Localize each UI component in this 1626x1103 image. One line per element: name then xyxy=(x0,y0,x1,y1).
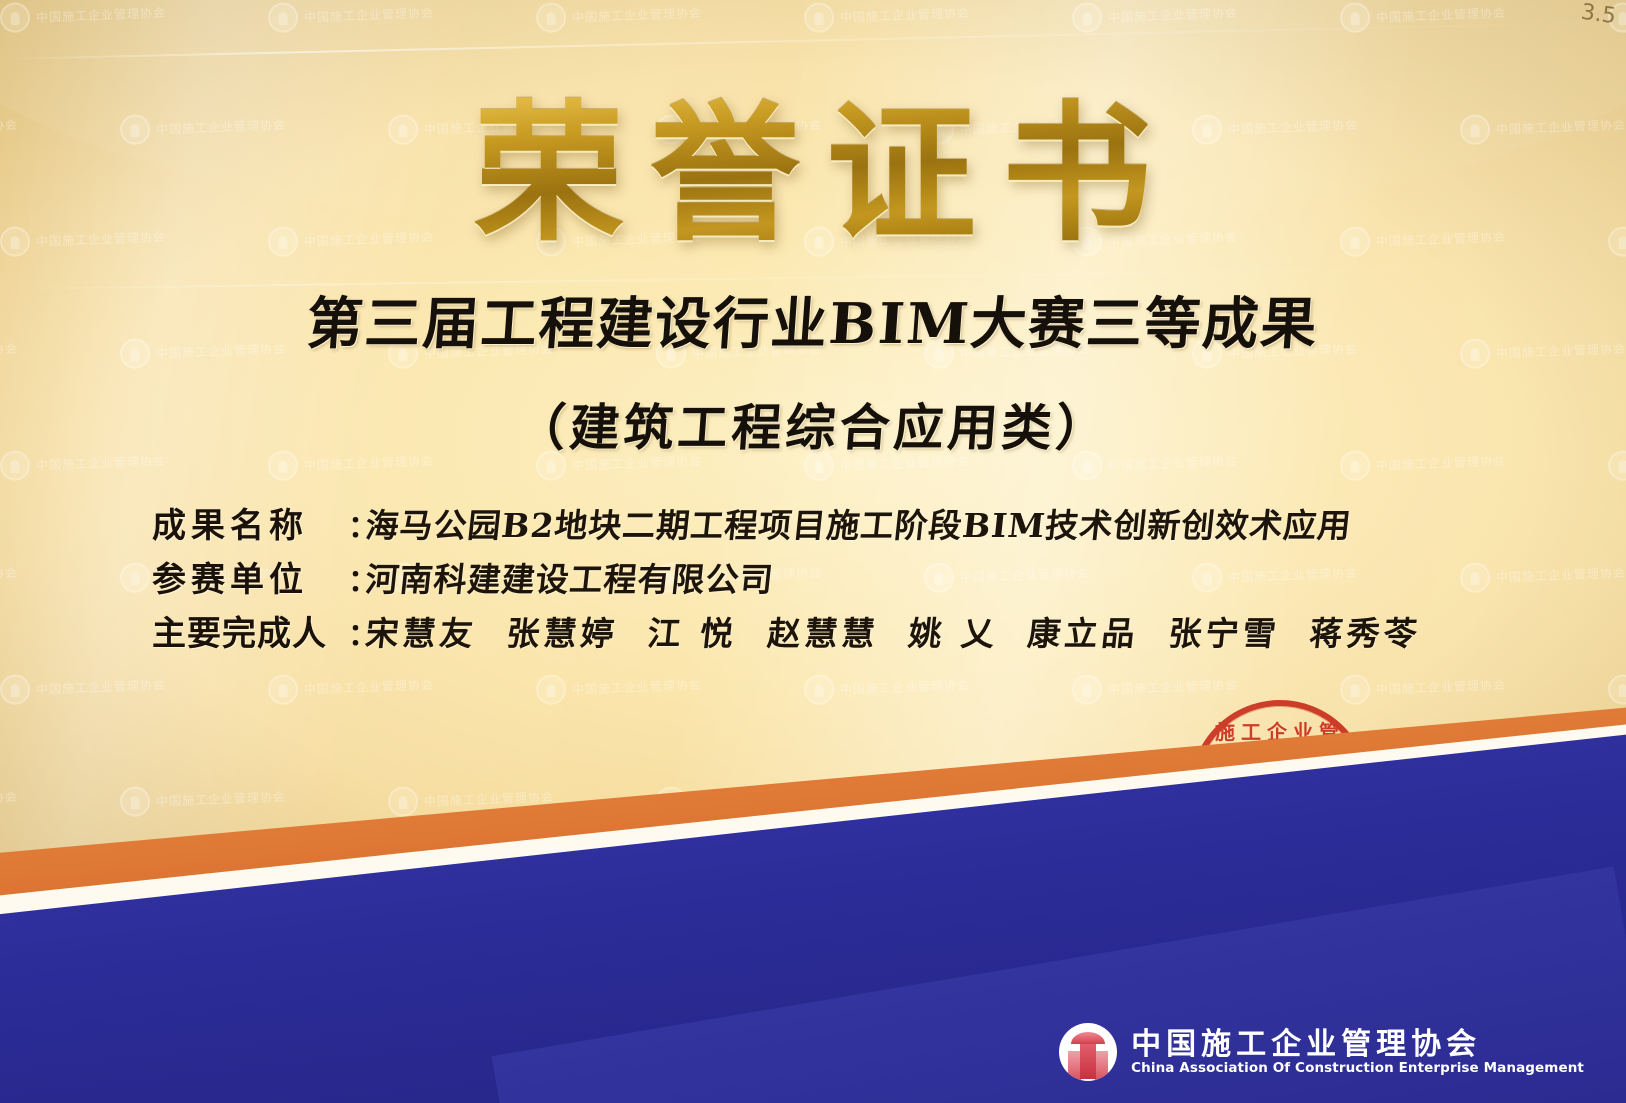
watermark-seal-glyph xyxy=(1339,2,1370,33)
watermark-text: 中国施工企业管理协会 xyxy=(572,675,703,697)
watermark-text: 中国施工企业管理协会 xyxy=(1376,3,1507,25)
award-zone: 第三届工程建设行业BIM大赛三等成果 xyxy=(0,296,1626,352)
detail-label: 成果名称 xyxy=(152,498,348,547)
contributor-name: 江 悦 xyxy=(645,607,740,655)
footer-logo: 中国施工企业管理协会 China Association Of Construc… xyxy=(1059,1023,1584,1081)
detail-value-achievement-name: 海马公园B2地块二期工程项目施工阶段BIM技术创新创效术应用 xyxy=(363,499,1354,547)
watermark-seal-icon: 中国施工企业管理协会 xyxy=(803,0,970,33)
watermark-text: 中国施工企业管理协会 xyxy=(304,3,435,25)
watermark-seal-icon: 中国施工企业管理协会 xyxy=(1339,0,1506,33)
watermark-seal-icon: 中国施工企业管理协会 xyxy=(0,0,167,33)
watermark-seal-glyph xyxy=(0,674,31,705)
watermark-seal-icon: 中国施工企业管理协会 xyxy=(267,0,434,33)
watermark-text: 中国施工企业管理协会 xyxy=(1376,675,1507,697)
contributor-name: 张慧婷 xyxy=(504,607,620,655)
contributor-name: 宋慧友 xyxy=(363,607,479,655)
watermark-text: 中国施工企业管理协会 xyxy=(572,3,703,25)
detail-label: 主要完成人 xyxy=(152,606,348,655)
watermark-text: 中国施工企业管理协会 xyxy=(840,3,971,25)
watermark-text: 中国施工企业管理协会 xyxy=(1108,675,1239,697)
watermark-seal-glyph xyxy=(535,674,566,705)
detail-value-participating-unit: 河南科建建设工程有限公司 xyxy=(363,553,776,601)
detail-list: 成果名称 ： 海马公园B2地块二期工程项目施工阶段BIM技术创新创效术应用 参赛… xyxy=(152,498,1472,660)
footer-logo-text: 中国施工企业管理协会 China Association Of Construc… xyxy=(1131,1029,1584,1076)
watermark-seal-glyph xyxy=(387,786,418,817)
detail-label: 参赛单位 xyxy=(152,552,348,601)
watermark-seal-glyph xyxy=(119,786,150,817)
association-emblem-icon xyxy=(1059,1023,1117,1081)
watermark-seal-icon: 中国施工企业管理协会 xyxy=(0,557,19,593)
contributor-name-list: 宋慧友张慧婷江 悦赵慧慧姚 乂康立品张宁雪蒋秀苓 xyxy=(366,607,1421,655)
watermark-seal-glyph xyxy=(119,562,150,593)
watermark-seal-glyph xyxy=(0,2,31,33)
detail-row-achievement-name: 成果名称 ： 海马公园B2地块二期工程项目施工阶段BIM技术创新创效术应用 xyxy=(152,498,1472,552)
emblem-cap xyxy=(1071,1032,1105,1044)
pen-mark: 3.5 xyxy=(1579,0,1617,29)
contributor-name: 康立品 xyxy=(1025,607,1141,655)
title-zone: 荣誉证书 xyxy=(0,96,1626,254)
watermark-seal-icon: 中国施工企业管理协会 xyxy=(0,781,19,817)
detail-row-participating-unit: 参赛单位 ： 河南科建建设工程有限公司 xyxy=(152,552,1472,606)
award-category: （建筑工程综合应用类） xyxy=(513,388,1112,460)
watermark-text: 中国施工企业管理协会 xyxy=(0,563,18,585)
watermark-seal-icon: 中国施工企业管理协会 xyxy=(803,669,970,705)
main-title: 荣誉证书 xyxy=(448,96,1178,254)
watermark-text: 中国施工企业管理协会 xyxy=(1496,563,1626,585)
watermark-seal-icon: 中国施工企业管理协会 xyxy=(0,669,167,705)
watermark-seal-glyph xyxy=(803,674,834,705)
contributor-name: 蒋秀苓 xyxy=(1307,607,1423,655)
award-title: 第三届工程建设行业BIM大赛三等成果 xyxy=(305,296,1320,352)
watermark-text: 中国施工企业管理协会 xyxy=(36,3,167,25)
watermark-text: 中国施工企业管理协会 xyxy=(0,787,18,809)
watermark-seal-icon: 中国施工企业管理协会 xyxy=(267,669,434,705)
watermark-seal-icon: 中国施工企业管理协会 xyxy=(1071,0,1238,33)
watermark-seal-glyph xyxy=(267,674,298,705)
watermark-text: 中国施工企业管理协会 xyxy=(304,675,435,697)
emblem-wing-right xyxy=(1095,1051,1108,1081)
watermark-seal-icon: 中国施工企业管理协会 xyxy=(1607,669,1626,705)
category-zone: （建筑工程综合应用类） xyxy=(0,388,1626,460)
watermark-seal-icon: 中国施工企业管理协会 xyxy=(535,669,702,705)
watermark-seal-glyph xyxy=(1607,674,1626,705)
honor-certificate: 中国施工企业管理协会中国施工企业管理协会中国施工企业管理协会中国施工企业管理协会… xyxy=(0,0,1626,1103)
watermark-text: 中国施工企业管理协会 xyxy=(36,675,167,697)
contributor-name: 张宁雪 xyxy=(1166,607,1282,655)
watermark-seal-glyph xyxy=(535,2,566,33)
watermark-seal-glyph xyxy=(803,2,834,33)
watermark-text: 中国施工企业管理协会 xyxy=(1108,3,1239,25)
watermark-seal-icon: 中国施工企业管理协会 xyxy=(119,781,286,817)
watermark-text: 中国施工企业管理协会 xyxy=(156,787,287,809)
watermark-seal-glyph xyxy=(1071,2,1102,33)
watermark-seal-icon: 中国施工企业管理协会 xyxy=(1459,557,1626,593)
watermark-seal-glyph xyxy=(1071,674,1102,705)
watermark-text: 中国施工企业管理协会 xyxy=(840,675,971,697)
watermark-seal-glyph xyxy=(267,2,298,33)
footer-logo-cn: 中国施工企业管理协会 xyxy=(1131,1029,1584,1061)
footer-logo-en: China Association Of Construction Enterp… xyxy=(1131,1061,1584,1075)
contributor-name: 赵慧慧 xyxy=(765,607,881,655)
detail-row-contributors: 主要完成人 ： 宋慧友张慧婷江 悦赵慧慧姚 乂康立品张宁雪蒋秀苓 xyxy=(152,606,1472,660)
contributor-name: 姚 乂 xyxy=(906,607,1001,655)
watermark-seal-icon: 中国施工企业管理协会 xyxy=(535,0,702,33)
